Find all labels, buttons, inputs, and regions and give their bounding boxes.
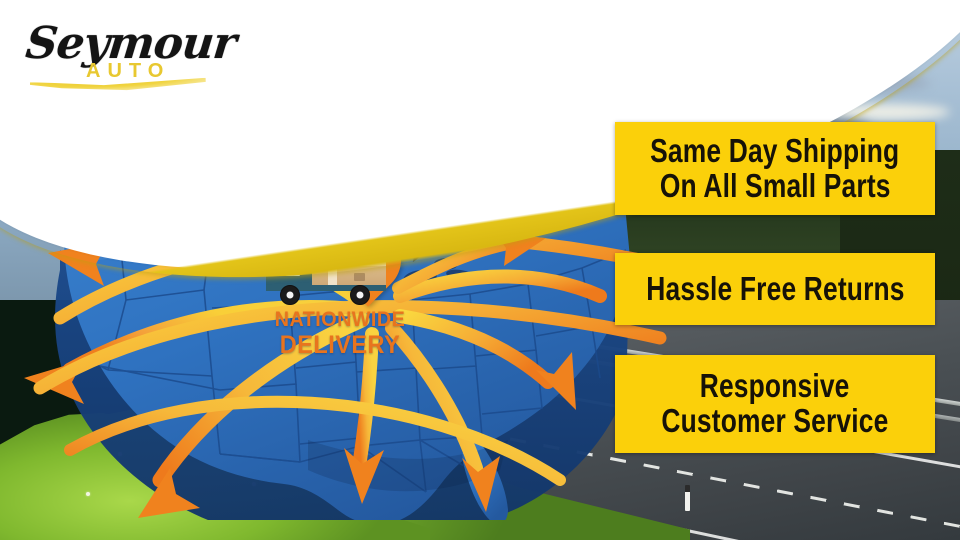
truck-wheel: [280, 285, 300, 305]
badge-line-1: NATIONWIDE: [255, 309, 424, 330]
delivery-arc: [400, 277, 600, 297]
logo-auto-text: AUTO: [86, 60, 170, 83]
badge-line-2: DELIVERY: [255, 333, 424, 358]
banner-2-line-1: Hassle Free Returns: [646, 272, 904, 307]
feature-banner-responsive-customer-service[interactable]: Responsive Customer Service: [615, 355, 935, 453]
truck-wheel: [350, 285, 370, 305]
box-label: [354, 273, 365, 281]
banner-3-line-2: Customer Service: [661, 404, 888, 439]
promo-banner-canvas: NATIONWIDE DELIVERY Seymour AUTO Same Da…: [0, 0, 960, 540]
arrow-head-southwest: [138, 468, 200, 518]
nationwide-delivery-text: NATIONWIDE DELIVERY: [250, 309, 430, 358]
banner-1-line-1: Same Day Shipping: [650, 134, 899, 169]
banner-3-line-1: Responsive: [700, 369, 850, 404]
seymour-auto-logo[interactable]: Seymour AUTO: [24, 16, 224, 102]
banner-1-line-2: On All Small Parts: [660, 169, 891, 204]
feature-banner-same-day-shipping[interactable]: Same Day Shipping On All Small Parts: [615, 122, 935, 215]
feature-banner-hassle-free-returns[interactable]: Hassle Free Returns: [615, 253, 935, 325]
